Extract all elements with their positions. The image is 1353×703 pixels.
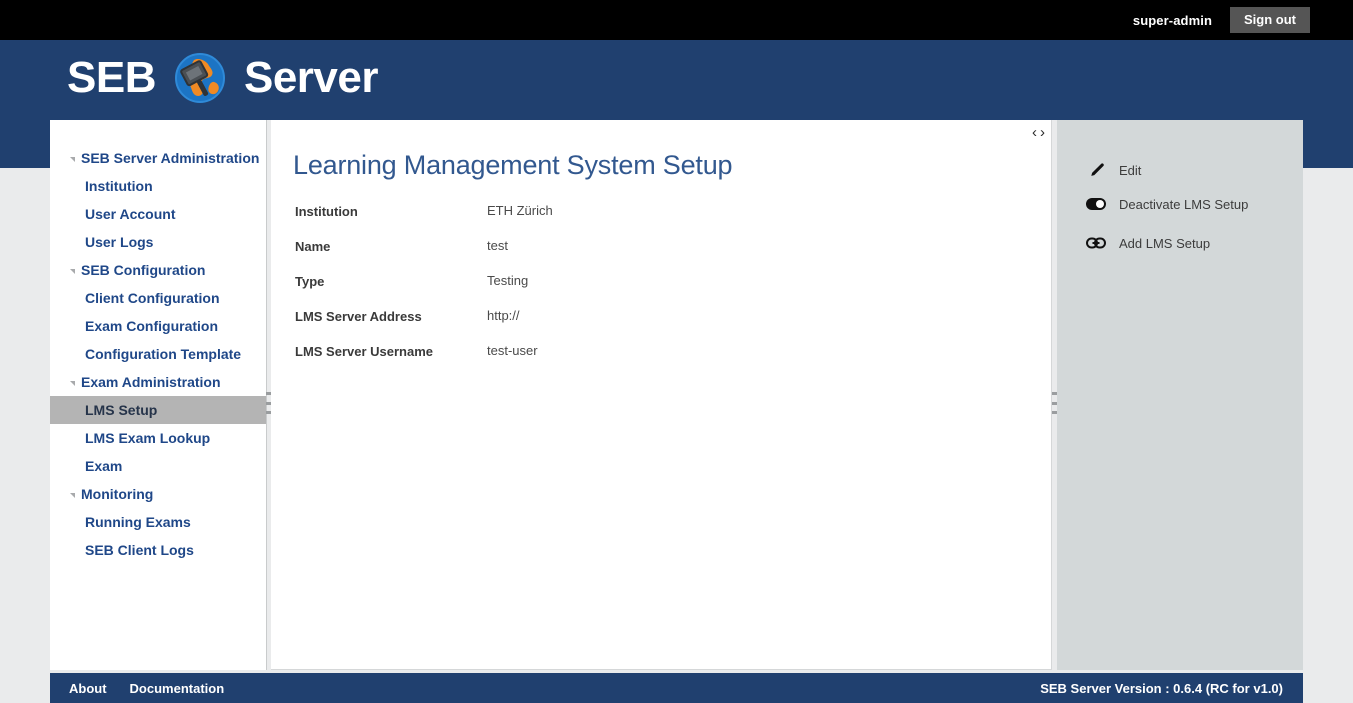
collapse-triangle-icon[interactable] [70, 269, 75, 274]
sidebar-item-label: Client Configuration [85, 290, 220, 306]
app-logo[interactable]: SEB Server [67, 48, 378, 108]
sidebar-item-configuration-template[interactable]: Configuration Template [50, 340, 266, 368]
lms-setup-detail-form: Institution ETH Zürich Name test Type Te… [295, 203, 1051, 378]
sidebar-item-exam[interactable]: Exam [50, 452, 266, 480]
form-row-lms-server-address: LMS Server Address http:// [295, 308, 1051, 343]
sidebar-group-monitoring[interactable]: Monitoring [50, 480, 266, 508]
form-row-type: Type Testing [295, 273, 1051, 308]
sidebar-item-seb-client-logs[interactable]: SEB Client Logs [50, 536, 266, 564]
action-label: Deactivate LMS Setup [1119, 197, 1248, 212]
action-edit[interactable]: Edit [1057, 153, 1303, 187]
sidebar-group-label: Exam Administration [81, 374, 221, 390]
footer-bar: About Documentation SEB Server Version :… [50, 673, 1303, 703]
toggle-switch-icon [1085, 193, 1107, 215]
sidebar: SEB Server Administration Institution Us… [50, 120, 267, 670]
footer-link-about[interactable]: About [69, 681, 107, 696]
collapse-triangle-icon[interactable] [70, 381, 75, 386]
app-root: super-admin Sign out SEB Server [0, 0, 1353, 703]
current-user-label: super-admin [1133, 13, 1212, 28]
sidebar-group-label: SEB Configuration [81, 262, 205, 278]
sidebar-item-label: Running Exams [85, 514, 191, 530]
logo-text-server: Server [244, 48, 378, 108]
sidebar-group-label: Monitoring [81, 486, 153, 502]
form-label: LMS Server Username [295, 343, 487, 359]
footer-version-label: SEB Server Version : 0.6.4 (RC for v1.0) [1040, 681, 1283, 696]
sidebar-item-label: Exam Configuration [85, 318, 218, 334]
form-value: Testing [487, 273, 528, 288]
action-add-lms-setup[interactable]: Add LMS Setup [1057, 226, 1303, 260]
sidebar-item-institution[interactable]: Institution [50, 172, 266, 200]
form-label: Type [295, 273, 487, 289]
sidebar-item-label: User Logs [85, 234, 153, 250]
form-value: ETH Zürich [487, 203, 553, 218]
sidebar-item-exam-configuration[interactable]: Exam Configuration [50, 312, 266, 340]
logo-text-seb: SEB [67, 48, 156, 108]
sidebar-item-label: SEB Client Logs [85, 542, 194, 558]
collapse-triangle-icon[interactable] [70, 157, 75, 162]
sidebar-item-label: Exam [85, 458, 122, 474]
sidebar-item-label: LMS Setup [85, 402, 157, 418]
form-value: test [487, 238, 508, 253]
sidebar-group-seb-configuration[interactable]: SEB Configuration [50, 256, 266, 284]
sidebar-group-label: SEB Server Administration [81, 150, 259, 166]
sidebar-item-label: User Account [85, 206, 176, 222]
link-icon [1085, 232, 1107, 254]
sidebar-nav: SEB Server Administration Institution Us… [50, 120, 266, 564]
form-value: http:// [487, 308, 520, 323]
sidebar-item-lms-setup[interactable]: LMS Setup [50, 396, 266, 424]
form-label: LMS Server Address [295, 308, 487, 324]
globe-monitor-icon [174, 52, 226, 104]
sidebar-group-seb-server-administration[interactable]: SEB Server Administration [50, 144, 266, 172]
action-label: Edit [1119, 163, 1141, 178]
sidebar-item-lms-exam-lookup[interactable]: LMS Exam Lookup [50, 424, 266, 452]
sidebar-item-running-exams[interactable]: Running Exams [50, 508, 266, 536]
sidebar-group-exam-administration[interactable]: Exam Administration [50, 368, 266, 396]
pencil-icon [1085, 159, 1107, 181]
sign-out-button[interactable]: Sign out [1230, 7, 1310, 33]
form-row-lms-server-username: LMS Server Username test-user [295, 343, 1051, 378]
collapse-triangle-icon[interactable] [70, 493, 75, 498]
form-value: test-user [487, 343, 538, 358]
form-row-institution: Institution ETH Zürich [295, 203, 1051, 238]
top-bar: super-admin Sign out [0, 0, 1353, 40]
form-label: Institution [295, 203, 487, 219]
sidebar-item-user-account[interactable]: User Account [50, 200, 266, 228]
action-deactivate-lms-setup[interactable]: Deactivate LMS Setup [1057, 187, 1303, 221]
sidebar-item-label: LMS Exam Lookup [85, 430, 210, 446]
sidebar-item-label: Configuration Template [85, 346, 241, 362]
sidebar-item-label: Institution [85, 178, 153, 194]
footer-link-documentation[interactable]: Documentation [130, 681, 225, 696]
action-label: Add LMS Setup [1119, 236, 1210, 251]
content-panel: ‹ › Learning Management System Setup Ins… [271, 120, 1052, 670]
page-title: Learning Management System Setup [293, 150, 1051, 181]
sidebar-item-client-configuration[interactable]: Client Configuration [50, 284, 266, 312]
form-label: Name [295, 238, 487, 254]
action-panel: Edit Deactivate LMS Setup Add LMS Setup [1057, 120, 1303, 670]
panel-collapse-controls[interactable]: ‹ › [1028, 123, 1049, 142]
form-row-name: Name test [295, 238, 1051, 273]
sidebar-item-user-logs[interactable]: User Logs [50, 228, 266, 256]
chevron-left-icon[interactable]: ‹ [1032, 125, 1037, 140]
chevron-right-icon[interactable]: › [1040, 125, 1045, 140]
